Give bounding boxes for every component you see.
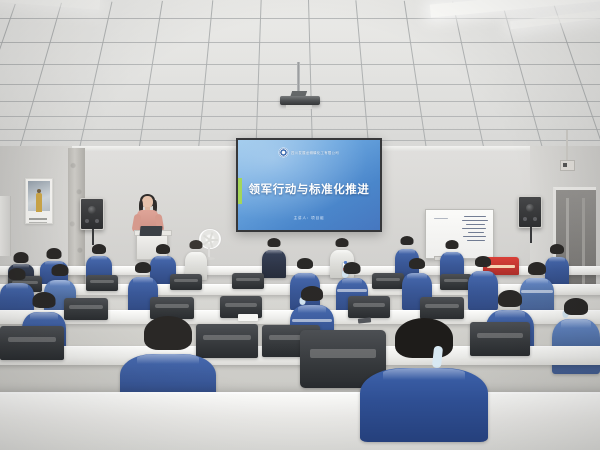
poster-figure-head-icon [37, 189, 41, 193]
attendee-hair [92, 244, 106, 254]
suspended-grid-ceiling [0, 0, 600, 152]
attendee-hair [301, 286, 323, 301]
attendee-hair [401, 236, 414, 245]
attendee-torso [360, 368, 488, 442]
attendee-hair [498, 290, 522, 307]
attendee-hair [14, 252, 29, 263]
attendee-foreground [360, 318, 488, 442]
attendee-hair [144, 316, 192, 350]
company-logo-icon [279, 148, 288, 157]
attendee-hair [528, 262, 546, 275]
left-window-frame [0, 196, 11, 256]
attendee-hair [33, 292, 56, 308]
attendee-hair [190, 240, 203, 249]
speaker-tweeter-icon [523, 217, 527, 221]
attendee-hair [297, 258, 313, 269]
speaker-cable [530, 227, 532, 243]
chair [232, 273, 264, 289]
company-name-text: 四川发展龙蟒磷化工有限公司 [291, 150, 339, 155]
attendee-hair [395, 318, 453, 358]
meeting-room-photo: 四川发展龙蟒磷化工有限公司 领军行动与标准化推进 主讲人：项目组 [0, 0, 600, 450]
attendee-hair [475, 256, 491, 267]
projection-screen: 四川发展龙蟒磷化工有限公司 领军行动与标准化推进 主讲人：项目组 [236, 138, 382, 232]
attendee-hair [9, 268, 26, 280]
attendee-hair [135, 262, 151, 273]
presenter-laptop [139, 226, 162, 236]
attendee-hair [336, 238, 349, 247]
projector-label-strip [286, 105, 312, 109]
speaker-cable [92, 229, 94, 245]
attendee-hair [156, 244, 170, 254]
chair [86, 275, 118, 291]
face-mask [431, 346, 442, 369]
poster-text-lines [29, 218, 47, 220]
attendee-torso [262, 250, 286, 278]
poster-figure-icon [36, 193, 42, 212]
attendee [262, 238, 286, 278]
ceiling-projector [280, 96, 320, 105]
speaker-cone-icon [526, 204, 534, 212]
chair [372, 273, 404, 289]
wall-speaker-right [518, 196, 542, 228]
attendee-hair [564, 298, 588, 315]
chair [348, 296, 390, 318]
foreground-desk [0, 392, 600, 450]
wall-conduit [566, 130, 568, 162]
poster-image [28, 181, 50, 211]
speaker-tweeter-icon [85, 219, 89, 223]
attendee-hair [268, 238, 281, 247]
slide-title: 领军行动与标准化推进 [238, 181, 380, 197]
attendee-hair [446, 240, 459, 249]
slide-subtitle: 主讲人：项目组 [238, 216, 380, 221]
attendee-hair [47, 248, 62, 259]
attendee-hair [344, 262, 361, 274]
speaker-cone-icon [88, 206, 96, 214]
speaker-tweeter-icon [533, 217, 537, 221]
slide-company-logo: 四川发展龙蟒磷化工有限公司 [238, 148, 380, 157]
presentation-slide: 四川发展龙蟒磷化工有限公司 领军行动与标准化推进 主讲人：项目组 [238, 140, 380, 230]
chair [420, 297, 464, 319]
wall-speaker-left [80, 198, 104, 230]
attendee-hair [52, 264, 69, 276]
chair [64, 298, 108, 320]
paper-sheet [238, 314, 258, 321]
wall-poster [25, 178, 53, 224]
wall-outlet-box [560, 160, 575, 171]
attendee-hair [409, 258, 425, 269]
chair [0, 326, 64, 360]
attendee-hair [550, 244, 564, 254]
speaker-tweeter-icon [95, 219, 99, 223]
chair [170, 274, 202, 290]
